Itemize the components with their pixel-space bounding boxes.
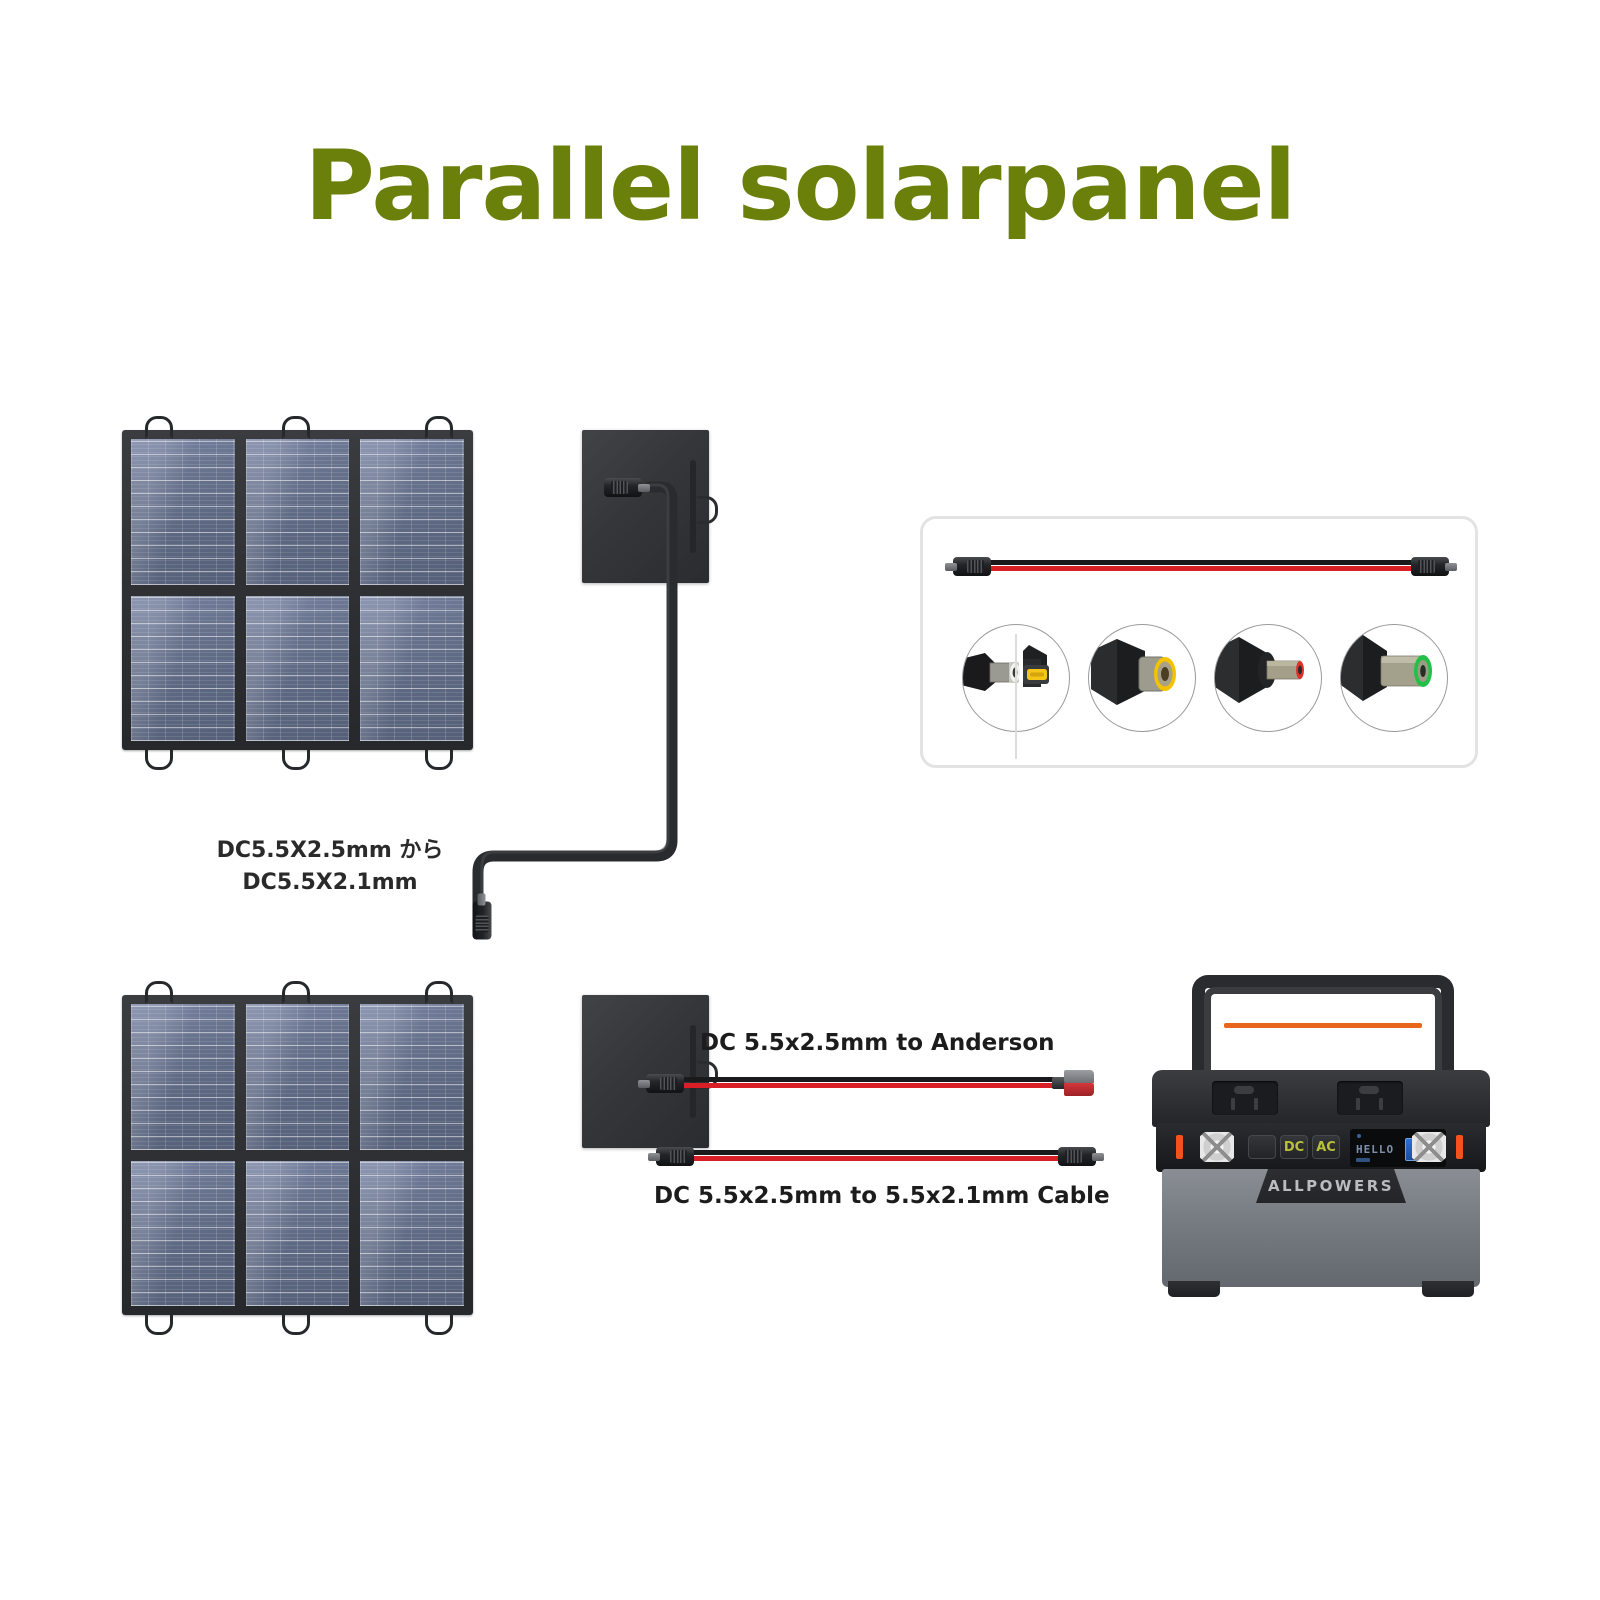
bottom-panel-cell-grid: [131, 1004, 464, 1306]
hanging-loop-icon: [282, 747, 310, 770]
ac-outlet-right[interactable]: [1337, 1081, 1403, 1115]
handle-orange-accent: [1224, 1023, 1422, 1028]
bottom-solar-panel: [122, 995, 600, 1325]
hanging-loop-icon: [282, 416, 310, 439]
solar-cell: [360, 596, 464, 742]
station-control-panel: DC AC HELLO 0.0: [1156, 1123, 1486, 1172]
bottom-panel-junction-flap: [582, 995, 709, 1148]
fan-vent-left-icon: [1200, 1132, 1234, 1162]
hanging-loop-icon: [145, 1312, 173, 1335]
panel-to-panel-cable-label: DC5.5X2.5mm から DC5.5X2.1mm: [150, 835, 510, 899]
plug-grip-rings: [1418, 560, 1435, 573]
hanging-loop-icon: [145, 747, 173, 770]
solar-cell: [131, 1004, 235, 1150]
plug-pin: [638, 1080, 650, 1088]
cable-red-wire: [664, 1083, 1058, 1088]
solar-cell: [246, 439, 350, 585]
station-foot-left: [1168, 1281, 1220, 1297]
station-brand-plate: ALLPOWERS: [1256, 1169, 1406, 1203]
station-body: ALLPOWERS: [1162, 1169, 1480, 1287]
dc-cable-right-plug: [1058, 1147, 1104, 1166]
outlet-ground-slot: [1359, 1086, 1379, 1094]
solar-cell: [131, 1161, 235, 1307]
flap-hanging-loop-icon: [696, 496, 718, 524]
cable-red-wire: [973, 566, 1431, 571]
cable-black-wire: [664, 1077, 1058, 1082]
solar-cell: [360, 1004, 464, 1150]
dc-button[interactable]: DC: [1280, 1135, 1308, 1159]
solar-cell: [131, 596, 235, 742]
top-panel-cell-grid: [131, 439, 464, 741]
lcd-status-dot: [1357, 1134, 1361, 1138]
panel-cable-label-line1: DC5.5X2.5mm から: [150, 835, 510, 867]
indicator-led-right: [1456, 1135, 1463, 1159]
hanging-loop-icon: [145, 981, 173, 1004]
indicator-led-left: [1176, 1135, 1183, 1159]
solar-cell: [360, 439, 464, 585]
anderson-cable-dc-plug: [638, 1074, 684, 1093]
brand-label: ALLPOWERS: [1256, 1177, 1406, 1195]
plug-grip-rings: [611, 481, 628, 494]
detail-cable-right-plug: [1411, 557, 1457, 576]
outlet-ground-slot: [1234, 1086, 1254, 1094]
station-foot-right: [1422, 1281, 1474, 1297]
hanging-loop-icon: [425, 981, 453, 1004]
dc-to-dc-cable-label: DC 5.5x2.5mm to 5.5x2.1mm Cable: [654, 1183, 1110, 1209]
hanging-loop-icon: [145, 416, 173, 439]
anderson-powerpole-connector: [1052, 1070, 1094, 1096]
cable-black-wire: [973, 560, 1431, 565]
anderson-red-housing: [1064, 1083, 1094, 1096]
lcd-message: HELLO: [1356, 1143, 1394, 1156]
bottom-panel-body: [122, 995, 473, 1315]
lcd-level-bar: [1356, 1158, 1370, 1162]
plug-grip-rings: [1065, 1150, 1082, 1163]
detail-box-cable: [973, 560, 1431, 572]
cable-red-wire: [680, 1156, 1060, 1161]
circle-divider-line: [1015, 634, 1017, 759]
outlet-slot-right: [1254, 1098, 1258, 1110]
plug-grip-rings: [660, 1077, 677, 1090]
connector-circle-red-tip-barrel: [1214, 624, 1322, 732]
cable-black-wire: [680, 1150, 1060, 1155]
connector-circle-green-ring-barrel: [1340, 624, 1448, 732]
power-station: DC AC HELLO 0.0 ALLPOWERS: [1152, 975, 1490, 1305]
ac-outlet-left[interactable]: [1212, 1081, 1278, 1115]
hanging-loop-icon: [425, 747, 453, 770]
hanging-loop-icon: [282, 981, 310, 1004]
fan-vent-right-icon: [1412, 1132, 1446, 1162]
connector-detail-box: [920, 516, 1478, 768]
hanging-loop-icon: [425, 1312, 453, 1335]
outlet-slot-right: [1379, 1098, 1383, 1110]
outlet-slot-left: [1356, 1098, 1360, 1110]
top-panel-junction-flap: [582, 430, 709, 583]
plug-pin: [648, 1153, 660, 1161]
detail-cable-left-plug: [945, 557, 991, 576]
top-solar-panel: [122, 430, 600, 760]
solar-cell: [131, 439, 235, 585]
station-handle-inner: [1204, 987, 1442, 1083]
hanging-loop-icon: [425, 416, 453, 439]
plug-pin: [1445, 563, 1457, 571]
anderson-cable-label: DC 5.5x2.5mm to Anderson: [700, 1030, 1055, 1056]
anderson-grey-housing: [1064, 1070, 1094, 1083]
plug-pin: [1092, 1153, 1104, 1161]
top-panel-body: [122, 430, 473, 750]
dc-cable-left-plug: [648, 1147, 694, 1166]
panel-cable-label-line2: DC5.5X2.1mm: [150, 867, 510, 899]
top-panel-dc-plug: [604, 478, 650, 497]
ac-button[interactable]: AC: [1312, 1135, 1340, 1159]
poster-canvas: Parallel solarpanel: [0, 0, 1600, 1600]
plug-grip-rings: [670, 1150, 687, 1163]
solar-cell: [360, 1161, 464, 1307]
hanging-loop-icon: [282, 1312, 310, 1335]
station-top-deck: [1152, 1070, 1490, 1127]
plug-grip-rings: [476, 916, 489, 933]
bottom-panel-dc-plug: [473, 894, 492, 940]
dc-to-anderson-cable: [664, 1077, 1058, 1089]
usb-button[interactable]: [1248, 1135, 1276, 1159]
solar-cell: [246, 596, 350, 742]
plug-pin: [945, 563, 957, 571]
outlet-slot-left: [1231, 1098, 1235, 1110]
solar-cell: [246, 1161, 350, 1307]
plug-pin: [638, 484, 650, 492]
dc-to-dc-cable: [680, 1150, 1060, 1162]
solar-cell: [246, 1004, 350, 1150]
page-title: Parallel solarpanel: [0, 134, 1600, 240]
plug-grip-rings: [967, 560, 984, 573]
connector-circle-yellow-ring-barrel: [1088, 624, 1196, 732]
